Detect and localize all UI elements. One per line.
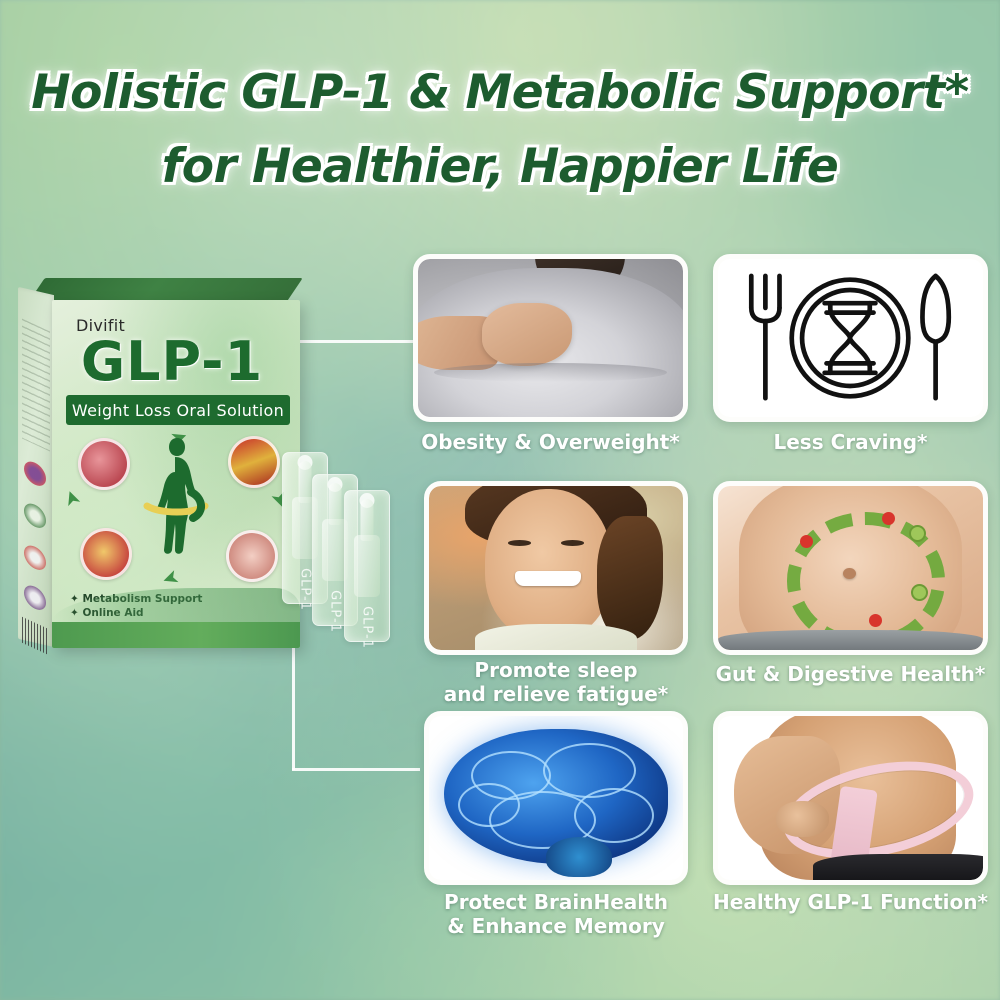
headline-line-1: Holistic GLP-1 & Metabolic Support* [31,65,969,120]
photo-waistband [718,630,983,650]
photo-hand [776,801,829,837]
organ-fat-cells-icon [80,528,132,580]
connector-bottom [292,768,420,772]
vial-1-label: GLP-1 [298,568,313,611]
brain-cerebellum [546,837,612,876]
benefit-card-gut[interactable] [713,481,988,655]
photo-face [485,489,612,640]
veg-tomato-3 [869,614,882,627]
product-name: GLP-1 [52,330,292,393]
overweight-man-photo [418,259,683,417]
barcode-icon [22,617,48,655]
organ-artery-icon [228,436,280,488]
benefit-caption-sleep: Promote sleep and relieve fatigue* [420,658,692,706]
photo-ponytail [597,516,663,641]
female-silhouette-icon [139,434,213,582]
organ-heart-icon [78,438,130,490]
certification-seal-2-icon [24,500,46,532]
certification-seal-3-icon [24,542,46,574]
vegetable-circle-abdomen-photo [718,486,983,650]
certification-seal-1-icon [24,458,46,490]
benefit-card-glp1-function[interactable] [713,711,988,885]
benefit-caption-gut: Gut & Digestive Health* [713,662,988,686]
waist-measuring-photo [718,716,983,880]
side-panel-text [22,319,50,452]
fork-plate-hourglass-knife-icon [718,259,983,417]
benefit-caption-less-craving: Less Craving* [713,430,988,454]
box-side-panel [18,287,54,647]
vial-blister-pack: GLP-1 GLP-1 GLP-1 [282,446,414,668]
vial-3-label: GLP-1 [360,606,375,649]
product-subtitle: Weight Loss Oral Solution [72,401,284,420]
page-title: Holistic GLP-1 & Metabolic Support* for … [0,56,1000,204]
vial-3-body [354,535,380,597]
headline-line-2: for Healthier, Happier Life [0,130,1000,204]
box-footer-left-text [60,630,62,640]
brain-gyrus-5 [458,783,520,827]
benefit-card-less-craving[interactable] [713,254,988,422]
benefit-caption-brain: Protect BrainHealth & Enhance Memory [420,890,692,938]
vial-2-label: GLP-1 [328,590,343,633]
infographic-canvas: Holistic GLP-1 & Metabolic Support* for … [0,0,1000,1000]
vial-3: GLP-1 [344,490,390,642]
fasting-icon-panel [718,259,983,417]
certification-seal-4-icon [24,582,46,614]
photo-eye-left [508,540,531,546]
benefit-caption-glp1-function: Healthy GLP-1 Function* [713,890,988,914]
benefit-caption-obesity: Obesity & Overweight* [413,430,688,454]
product-illustration: ➤ ➤ ➤ ➤ [58,432,294,582]
product-subtitle-bar: Weight Loss Oral Solution [66,395,290,425]
photo-collar [475,624,638,650]
benefit-card-brain[interactable] [424,711,688,885]
benefit-card-obesity[interactable] [413,254,688,422]
blue-brain-photo [429,716,683,880]
box-footer-strip [52,622,300,648]
smiling-woman-photo [429,486,683,650]
organ-stomach-icon [226,530,278,582]
photo-smile [515,571,581,586]
box-front-face: Divifit GLP-1 Weight Loss Oral Solution … [52,300,300,648]
benefit-card-sleep[interactable] [424,481,688,655]
product-package: Divifit GLP-1 Weight Loss Oral Solution … [18,278,318,658]
photo-pants [813,854,983,880]
photo-eye-right [561,540,584,546]
cycle-arrow-left-icon: ➤ [60,487,85,510]
brain-gyrus-4 [574,788,654,843]
photo-hand [482,303,572,366]
